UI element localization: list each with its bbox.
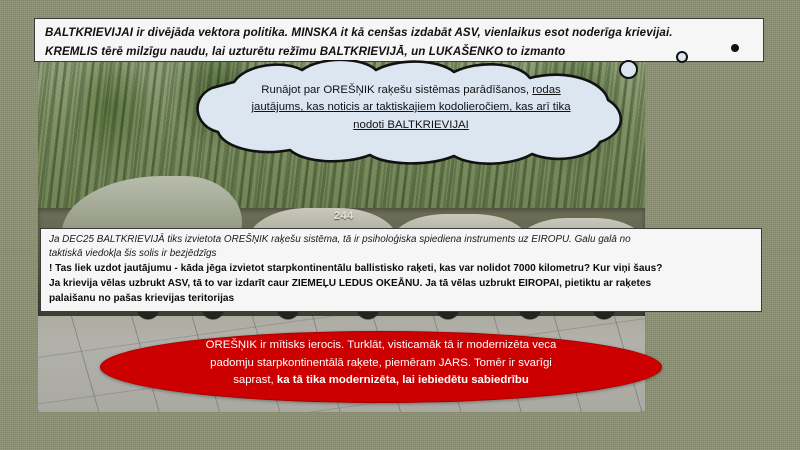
bubble-line3: nodoti BALTKRIEVIJAI bbox=[353, 119, 469, 131]
bubble-line2: jautājums, kas noticis ar taktiskajiem k… bbox=[251, 101, 570, 113]
bubble-line1-underlined: rodas bbox=[532, 84, 561, 96]
vehicle-number-label: 244 bbox=[334, 210, 354, 222]
header-text-box: BALTKRIEVIJAI ir divējāda vektora politi… bbox=[34, 18, 764, 62]
thought-bubble-tail-dot-small bbox=[731, 44, 739, 52]
mid-bold-line-3: palaišanu no pašas krievijas teritorijas bbox=[49, 292, 754, 307]
ellipse-line-1: OREŠŅIK ir mītisks ierocis. Turklāt, vis… bbox=[206, 339, 557, 351]
slide-canvas: 244 BALTKRIEVIJAI ir divējāda vektora po… bbox=[0, 0, 800, 450]
ellipse-line-3-bold: ka tā tika modernizēta, lai iebiedētu sa… bbox=[277, 374, 529, 386]
thought-bubble-tail-dot-medium bbox=[676, 51, 688, 63]
red-ellipse-text: OREŠŅIK ir mītisks ierocis. Turklāt, vis… bbox=[136, 337, 626, 390]
header-line-1: BALTKRIEVIJAI ir divējāda vektora politi… bbox=[45, 24, 755, 43]
ellipse-line-2: padomju starpkontinentālā raķete, piemēr… bbox=[210, 357, 552, 369]
middle-text-box: Ja DEC25 BALTKRIEVIJĀ tiks izvietota ORE… bbox=[40, 228, 762, 312]
header-line-2: KREMLIS tērē milzīgu naudu, lai uzturētu… bbox=[45, 43, 755, 62]
thought-bubble-tail-dot-large bbox=[619, 60, 638, 79]
ellipse-line-3-plain: saprast, bbox=[233, 374, 277, 386]
mid-italic-line-2: taktiskā viedokļa šis solis ir bezjēdzīg… bbox=[49, 247, 754, 261]
mid-bold-line-1: ! Tas liek uzdot jautājumu - kāda jēga i… bbox=[49, 262, 754, 277]
thought-bubble-text: Runājot par OREŠŅIK raķešu sistēmas parā… bbox=[222, 82, 600, 134]
thought-bubble: Runājot par OREŠŅIK raķešu sistēmas parā… bbox=[176, 60, 646, 168]
mid-bold-line-2: Ja krievija vēlas uzbrukt ASV, tā to var… bbox=[49, 277, 754, 292]
mid-italic-line-1: Ja DEC25 BALTKRIEVIJĀ tiks izvietota ORE… bbox=[49, 233, 754, 247]
bubble-line1-plain: Runājot par OREŠŅIK raķešu sistēmas parā… bbox=[261, 84, 532, 96]
